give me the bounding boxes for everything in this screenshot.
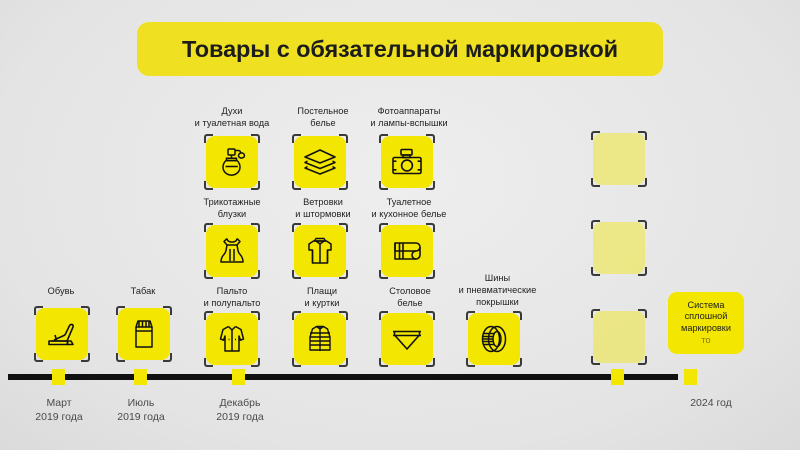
placeholder-tile-top bbox=[593, 133, 645, 185]
corner-bracket-tl bbox=[591, 131, 600, 140]
jacket-icon bbox=[294, 313, 346, 365]
item-label-vetrovki: Ветровки и штормовки bbox=[278, 196, 368, 220]
corner-bracket-bl bbox=[591, 178, 600, 187]
timeline-date-july-2019: Июль 2019 года bbox=[100, 397, 182, 424]
timeline-bar bbox=[8, 374, 678, 380]
item-label-tabak: Табак bbox=[104, 285, 182, 297]
item-tile-duhi[interactable] bbox=[206, 136, 258, 188]
timeline-marker-mid[interactable] bbox=[611, 369, 624, 385]
corner-bracket-bl bbox=[591, 267, 600, 276]
item-tile-tabak[interactable] bbox=[118, 308, 170, 360]
item-label-fotoapparaty: Фотоаппараты и лампы-вспышки bbox=[359, 105, 459, 129]
timeline-marker-2024[interactable] bbox=[684, 369, 697, 385]
corner-bracket-tr bbox=[638, 309, 647, 318]
item-label-obuv: Обувь bbox=[22, 285, 100, 297]
placeholder-tile-middle bbox=[593, 222, 645, 274]
item-label-tualetnoe: Туалетное и кухонное белье bbox=[360, 196, 458, 220]
cigarettes-icon bbox=[118, 308, 170, 360]
linens-icon bbox=[294, 136, 346, 188]
end-card-label: Система сплошной маркировки bbox=[681, 300, 731, 335]
slide-title-pill: Товары с обязательной маркировкой bbox=[137, 22, 663, 76]
corner-bracket-tr bbox=[638, 220, 647, 229]
item-tile-palto[interactable] bbox=[206, 313, 258, 365]
item-label-shiny: Шины и пневматические покрышки bbox=[440, 272, 555, 309]
windbreaker-icon bbox=[294, 225, 346, 277]
timeline-date-december-2019: Декабрь 2019 года bbox=[196, 397, 284, 424]
item-label-plashchi: Плащи и куртки bbox=[278, 285, 366, 309]
placeholder-tile-bottom bbox=[593, 311, 645, 363]
page-title: Товары с обязательной маркировкой bbox=[182, 36, 618, 63]
slide-canvas: Товары с обязательной маркировкой Духи и… bbox=[0, 0, 800, 450]
corner-bracket-br bbox=[638, 178, 647, 187]
coat-icon bbox=[206, 313, 258, 365]
corner-bracket-tl bbox=[591, 220, 600, 229]
dress-icon bbox=[206, 225, 258, 277]
corner-bracket-br bbox=[638, 267, 647, 276]
camera-icon bbox=[381, 136, 433, 188]
item-tile-trikotazh[interactable] bbox=[206, 225, 258, 277]
item-label-palto: Пальто и полупальто bbox=[186, 285, 278, 309]
item-label-duhi: Духи и туалетная вода bbox=[186, 105, 278, 129]
towel-icon bbox=[381, 225, 433, 277]
timeline-date-2024: 2024 год bbox=[668, 397, 754, 411]
item-tile-obuv[interactable] bbox=[36, 308, 88, 360]
end-card-continuous-marking[interactable]: Система сплошной маркировки то bbox=[668, 292, 744, 354]
timeline-marker-july-2019[interactable] bbox=[134, 369, 147, 385]
item-tile-plashchi[interactable] bbox=[294, 313, 346, 365]
shoe-icon bbox=[36, 308, 88, 360]
item-tile-tualetnoe[interactable] bbox=[381, 225, 433, 277]
tire-icon bbox=[468, 313, 520, 365]
corner-bracket-tr bbox=[638, 131, 647, 140]
corner-bracket-bl bbox=[591, 356, 600, 365]
timeline-date-march-2019: Март 2019 года bbox=[18, 397, 100, 424]
item-tile-vetrovki[interactable] bbox=[294, 225, 346, 277]
item-tile-postelnoe[interactable] bbox=[294, 136, 346, 188]
end-card-partial-label: то bbox=[701, 335, 710, 347]
item-tile-fotoapparaty[interactable] bbox=[381, 136, 433, 188]
tablecloth-icon bbox=[381, 313, 433, 365]
item-tile-shiny[interactable] bbox=[468, 313, 520, 365]
perfume-icon bbox=[206, 136, 258, 188]
item-tile-stolovoe[interactable] bbox=[381, 313, 433, 365]
corner-bracket-tl bbox=[591, 309, 600, 318]
item-label-trikotazh: Трикотажные блузки bbox=[188, 196, 276, 220]
timeline-marker-december-2019[interactable] bbox=[232, 369, 245, 385]
corner-bracket-br bbox=[638, 356, 647, 365]
timeline-marker-march-2019[interactable] bbox=[52, 369, 65, 385]
item-label-postelnoe: Постельное белье bbox=[277, 105, 369, 129]
